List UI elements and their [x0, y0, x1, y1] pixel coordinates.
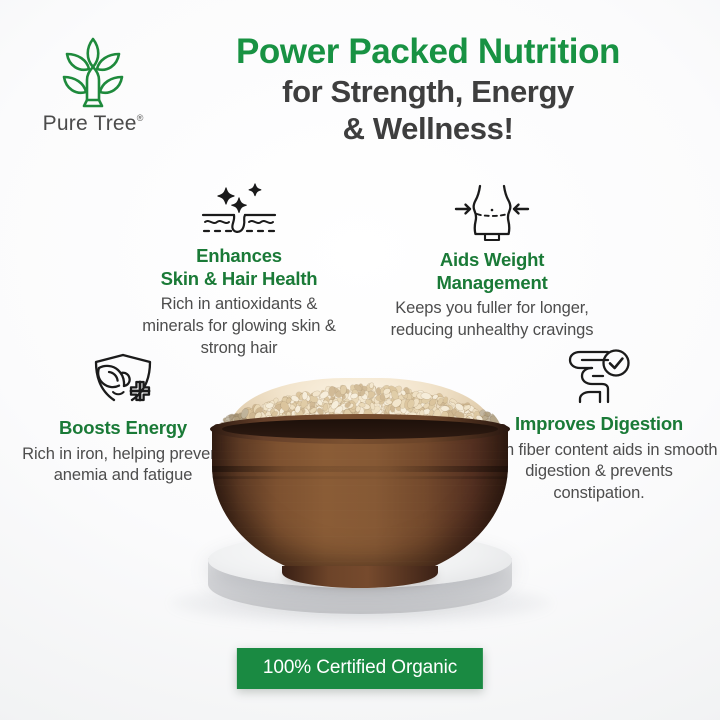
bowl-rim-inner-shadow: [222, 419, 498, 439]
certified-organic-badge: 100% Certified Organic: [237, 648, 483, 689]
feature-weight-management-title-line2: Management: [436, 272, 547, 293]
glowing-skin-sparkle-icon: [198, 182, 280, 238]
sesame-seed-bowl: [196, 378, 524, 593]
feature-skin-hair-title-line2: Skin & Hair Health: [161, 268, 318, 289]
brand-logo: Pure Tree ®: [28, 34, 158, 136]
brand-wordmark: Pure Tree: [43, 112, 137, 136]
feature-weight-management-title-line1: Aids Weight: [440, 249, 544, 270]
feature-skin-hair-title-line1: Enhances: [196, 245, 282, 266]
headline-line-1: Power Packed Nutrition: [150, 32, 706, 73]
tree-leaf-logo-icon: [50, 34, 136, 110]
page-title: Power Packed Nutrition for Strength, Ene…: [150, 32, 706, 147]
feature-weight-management: Aids Weight Management Keeps you fuller …: [378, 184, 606, 342]
infographic-canvas: Pure Tree ® Power Packed Nutrition for S…: [0, 0, 720, 720]
feature-weight-management-title: Aids Weight Management: [378, 249, 606, 294]
headline-line-2: for Strength, Energy: [150, 73, 706, 110]
registered-trademark-mark: ®: [137, 114, 144, 123]
bowl-body: [212, 424, 508, 582]
headline-line-3: & Wellness!: [150, 110, 706, 147]
slim-waist-torso-icon: [452, 184, 532, 242]
product-image: [0, 330, 720, 670]
bowl-base: [282, 566, 438, 588]
feature-skin-hair-title: Enhances Skin & Hair Health: [128, 245, 350, 290]
